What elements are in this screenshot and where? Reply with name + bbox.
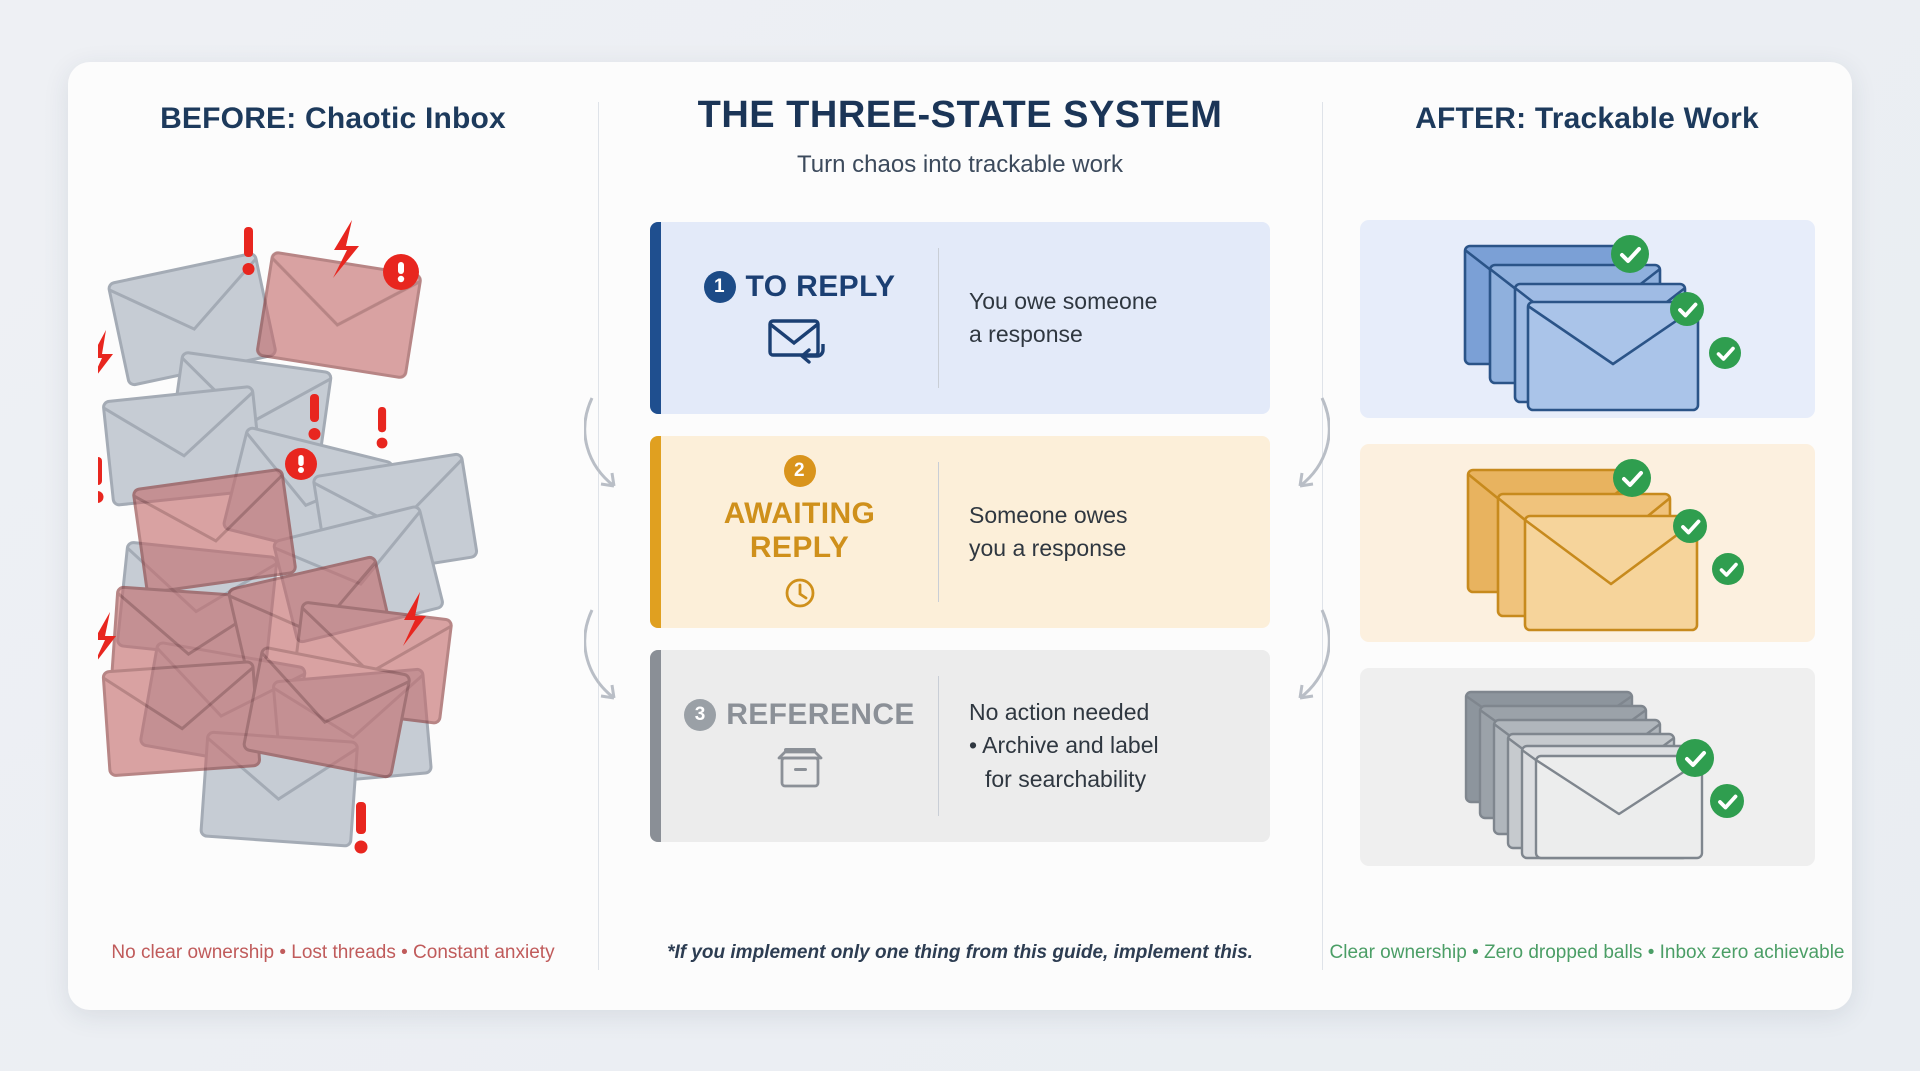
chaotic-inbox-illustration <box>98 212 568 912</box>
desc-line: a response <box>969 318 1250 351</box>
desc-line: for searchability <box>969 763 1250 796</box>
connector-arrow-right-2 <box>1270 604 1330 714</box>
chaos-envelope-pile <box>98 212 568 912</box>
state-label: REFERENCE <box>726 698 915 733</box>
state-accent-bar <box>650 436 661 628</box>
desc-line: • Archive and label <box>969 729 1250 762</box>
state-number-badge: 3 <box>684 699 716 731</box>
state-description: You owe someone a response <box>939 222 1270 414</box>
system-footnote: *If you implement only one thing from th… <box>598 942 1322 964</box>
state-description: Someone owes you a response <box>939 436 1270 628</box>
clock-icon <box>783 576 817 610</box>
before-column: BEFORE: Chaotic Inbox <box>68 62 598 1010</box>
state-card-reference[interactable]: 3 REFERENCE <box>650 650 1270 842</box>
state-label: AWAITING REPLY <box>677 497 922 566</box>
before-footer: No clear ownership • Lost threads • Cons… <box>68 942 598 964</box>
before-title: BEFORE: Chaotic Inbox <box>68 102 598 136</box>
desc-line: You owe someone <box>969 285 1250 318</box>
state-card-to-reply[interactable]: 1 TO REPLY <box>650 222 1270 414</box>
after-column: AFTER: Trackable Work <box>1322 62 1852 1010</box>
connector-arrow-right-1 <box>1270 392 1330 502</box>
awaiting-reply-stack <box>1360 444 1815 642</box>
reference-stack <box>1360 668 1815 866</box>
three-state-column: THE THREE-STATE SYSTEM Turn chaos into t… <box>598 62 1322 1010</box>
trackable-stacks <box>1360 220 1815 892</box>
state-list: 1 TO REPLY <box>650 222 1270 864</box>
state-description: No action needed • Archive and label for… <box>939 650 1270 842</box>
after-footer: Clear ownership • Zero dropped balls • I… <box>1322 942 1852 964</box>
state-label: TO REPLY <box>746 270 896 305</box>
state-number-badge: 1 <box>704 271 736 303</box>
state-number-badge: 2 <box>784 455 816 487</box>
state-card-awaiting-reply[interactable]: 2 AWAITING REPLY Someone owes <box>650 436 1270 628</box>
system-subtitle: Turn chaos into trackable work <box>598 151 1322 179</box>
system-title: THE THREE-STATE SYSTEM <box>598 94 1322 137</box>
desc-line: Someone owes <box>969 499 1250 532</box>
state-accent-bar <box>650 222 661 414</box>
state-accent-bar <box>650 650 661 842</box>
infographic-page: BEFORE: Chaotic Inbox <box>0 0 1920 1071</box>
envelope-reply-icon <box>767 316 833 366</box>
to-reply-stack <box>1360 220 1815 418</box>
after-title: AFTER: Trackable Work <box>1322 102 1852 136</box>
archive-box-icon <box>771 744 829 794</box>
desc-line: No action needed <box>969 696 1250 729</box>
main-panel: BEFORE: Chaotic Inbox <box>68 62 1852 1010</box>
desc-line: you a response <box>969 532 1250 565</box>
